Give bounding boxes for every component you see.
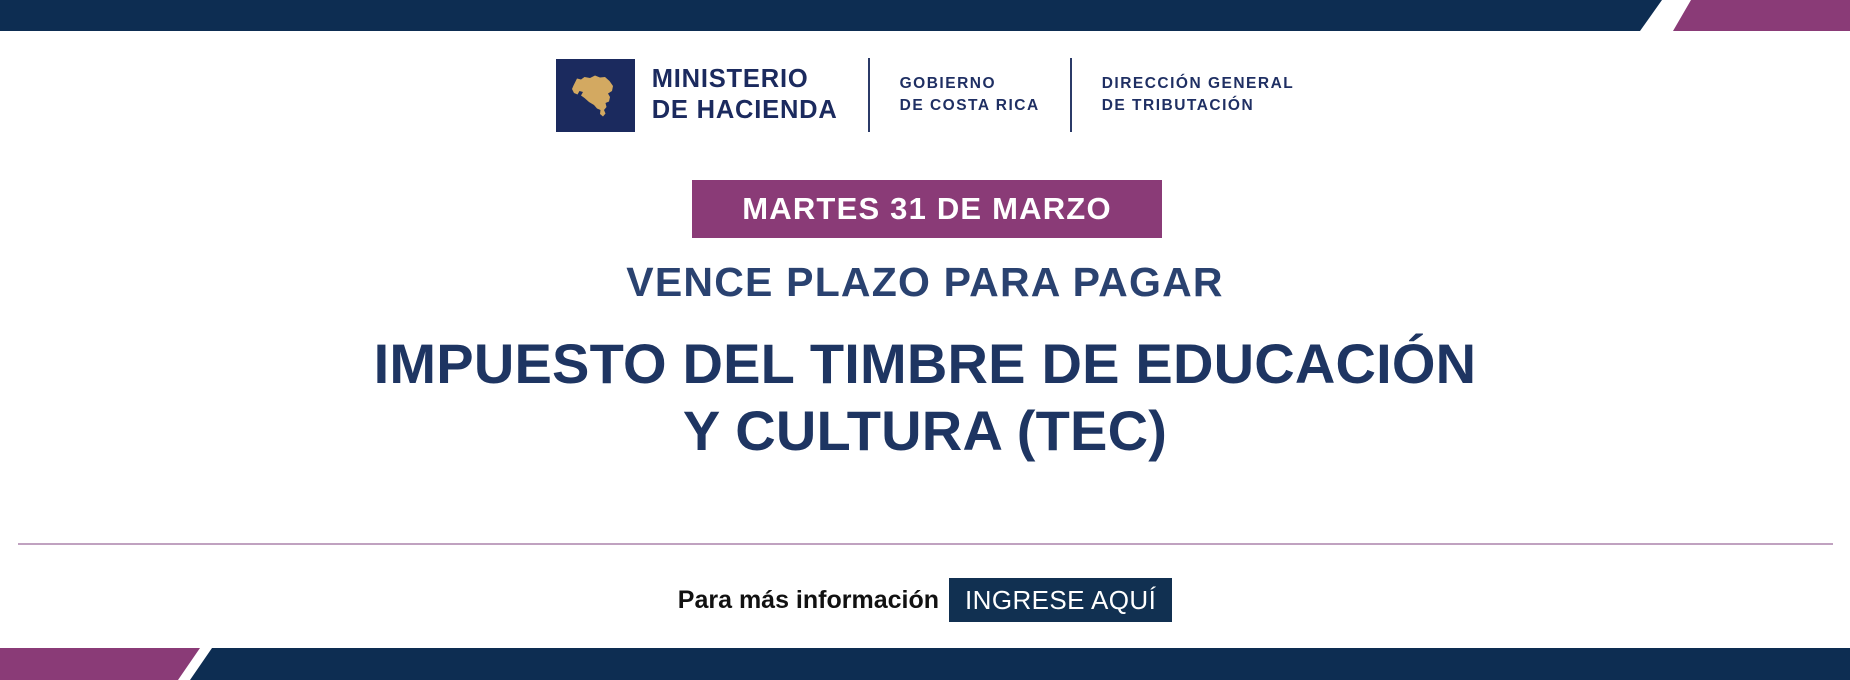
logo-ministerio-line2: DE HACIENDA [652, 95, 838, 126]
cta-label: Para más información [678, 578, 949, 622]
bottom-navy-band [190, 648, 1850, 680]
logo-gobierno-costa-rica: GOBIERNO DE COSTA RICA [900, 73, 1040, 118]
costa-rica-map-icon [556, 59, 635, 132]
headline-title-line1: IMPUESTO DEL TIMBRE DE EDUCACIÓN [0, 330, 1850, 397]
ingrese-aqui-button[interactable]: INGRESE AQUÍ [949, 578, 1172, 622]
logo-gobierno-line2: DE COSTA RICA [900, 95, 1040, 117]
tax-deadline-banner: MINISTERIO DE HACIENDA GOBIERNO DE COSTA… [0, 0, 1850, 680]
logo-direccion-line1: DIRECCIÓN GENERAL [1102, 73, 1295, 95]
top-magenta-band [1673, 0, 1850, 31]
headline-title-line2: Y CULTURA (TEC) [0, 397, 1850, 464]
top-navy-band [0, 0, 1662, 31]
headline-kicker: VENCE PLAZO PARA PAGAR [0, 262, 1850, 303]
horizontal-divider [18, 543, 1833, 545]
logo-ministerio-text: MINISTERIO DE HACIENDA [652, 64, 838, 126]
call-to-action-row: Para más información INGRESE AQUÍ [0, 578, 1850, 622]
bottom-magenta-band [0, 648, 200, 680]
logo-divider-2 [1070, 58, 1072, 132]
institutional-logo-lockup: MINISTERIO DE HACIENDA GOBIERNO DE COSTA… [0, 58, 1850, 132]
logo-ministerio-hacienda: MINISTERIO DE HACIENDA [556, 59, 838, 132]
date-badge-label: MARTES 31 DE MARZO [742, 191, 1112, 227]
logo-direccion-general-tributacion: DIRECCIÓN GENERAL DE TRIBUTACIÓN [1102, 73, 1295, 118]
headline-block: VENCE PLAZO PARA PAGAR IMPUESTO DEL TIMB… [0, 262, 1850, 464]
top-decorative-bar [0, 0, 1850, 31]
date-badge: MARTES 31 DE MARZO [692, 180, 1162, 238]
logo-gobierno-line1: GOBIERNO [900, 73, 1040, 95]
logo-ministerio-line1: MINISTERIO [652, 64, 838, 95]
logo-divider-1 [868, 58, 870, 132]
logo-direccion-line2: DE TRIBUTACIÓN [1102, 95, 1295, 117]
bottom-decorative-bar [0, 648, 1850, 680]
